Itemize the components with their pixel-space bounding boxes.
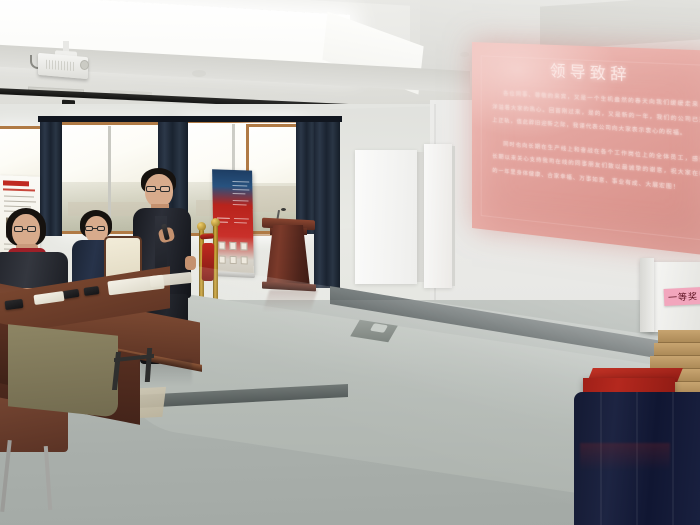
ceiling-downlight-icon: [590, 26, 599, 31]
projector-lens-icon: [80, 60, 89, 70]
banner-text-line: [234, 218, 249, 220]
drape-fold: [672, 392, 674, 525]
partition-panel-hinge: [452, 146, 455, 286]
banner-text-line: [232, 193, 245, 195]
slide-body: 各位同事、尊敬的来宾，又是一个生机盎然的春天向我们缓缓走来，洋溢着大家的热心。回…: [492, 87, 700, 208]
lectern-reflection: [262, 290, 317, 312]
banner-thumbnail: [240, 242, 247, 250]
banner-thumbnail: [219, 256, 226, 264]
banner-thumbnail: [218, 241, 225, 249]
poster-text-line: [4, 195, 34, 197]
first-prize-label: 一等奖: [664, 287, 700, 306]
banner-text-line: [233, 200, 249, 202]
slide-paragraph: 同时也向长期在生产线上和奋战在各个工作岗位上的全体员工，感谢长期以来关心支持我司…: [492, 137, 700, 198]
banner-thumbnail: [241, 256, 248, 264]
banner-text-line: [232, 185, 247, 187]
poster-heading-bar: [3, 180, 29, 186]
banner-text-line: [233, 204, 247, 206]
curtain-right: [314, 118, 340, 288]
prize-box-kraft: [658, 330, 700, 343]
partition-panel-right: [424, 144, 452, 288]
banner-thumbnail: [229, 242, 236, 250]
banner-thumbnail: [230, 256, 237, 264]
prize-box-kraft: [654, 343, 700, 356]
partition-panel-edge: [417, 152, 424, 282]
prize-box-reflection: [580, 443, 670, 471]
banner-text-line: [234, 222, 247, 224]
table-modesty-panel: [8, 324, 118, 418]
prize-box-white-side: [640, 258, 654, 332]
conference-room-photo: 领导致辞 各位同事、尊敬的来宾，又是一个生机盎然的春天向我们缓缓走来，洋溢着大家…: [0, 0, 700, 525]
ceiling-speaker-icon: [192, 70, 206, 77]
speaker-hand-right: [185, 256, 196, 270]
banner-text-line: [232, 181, 249, 183]
speaker-reflection: [140, 360, 192, 386]
curtain-rail: [38, 116, 342, 122]
microphone-head-icon: [281, 208, 286, 211]
poster-text-line: [4, 200, 36, 203]
partition-panel-left: [355, 150, 417, 284]
projection-screen: 领导致辞 各位同事、尊敬的来宾，又是一个生机盎然的春天向我们缓缓走来，洋溢着大家…: [472, 42, 700, 257]
banner-text-line: [232, 189, 249, 191]
poster-subheading-bar: [3, 188, 35, 191]
velvet-rope: [200, 234, 214, 240]
ceiling-downlight-icon: [460, 52, 469, 57]
